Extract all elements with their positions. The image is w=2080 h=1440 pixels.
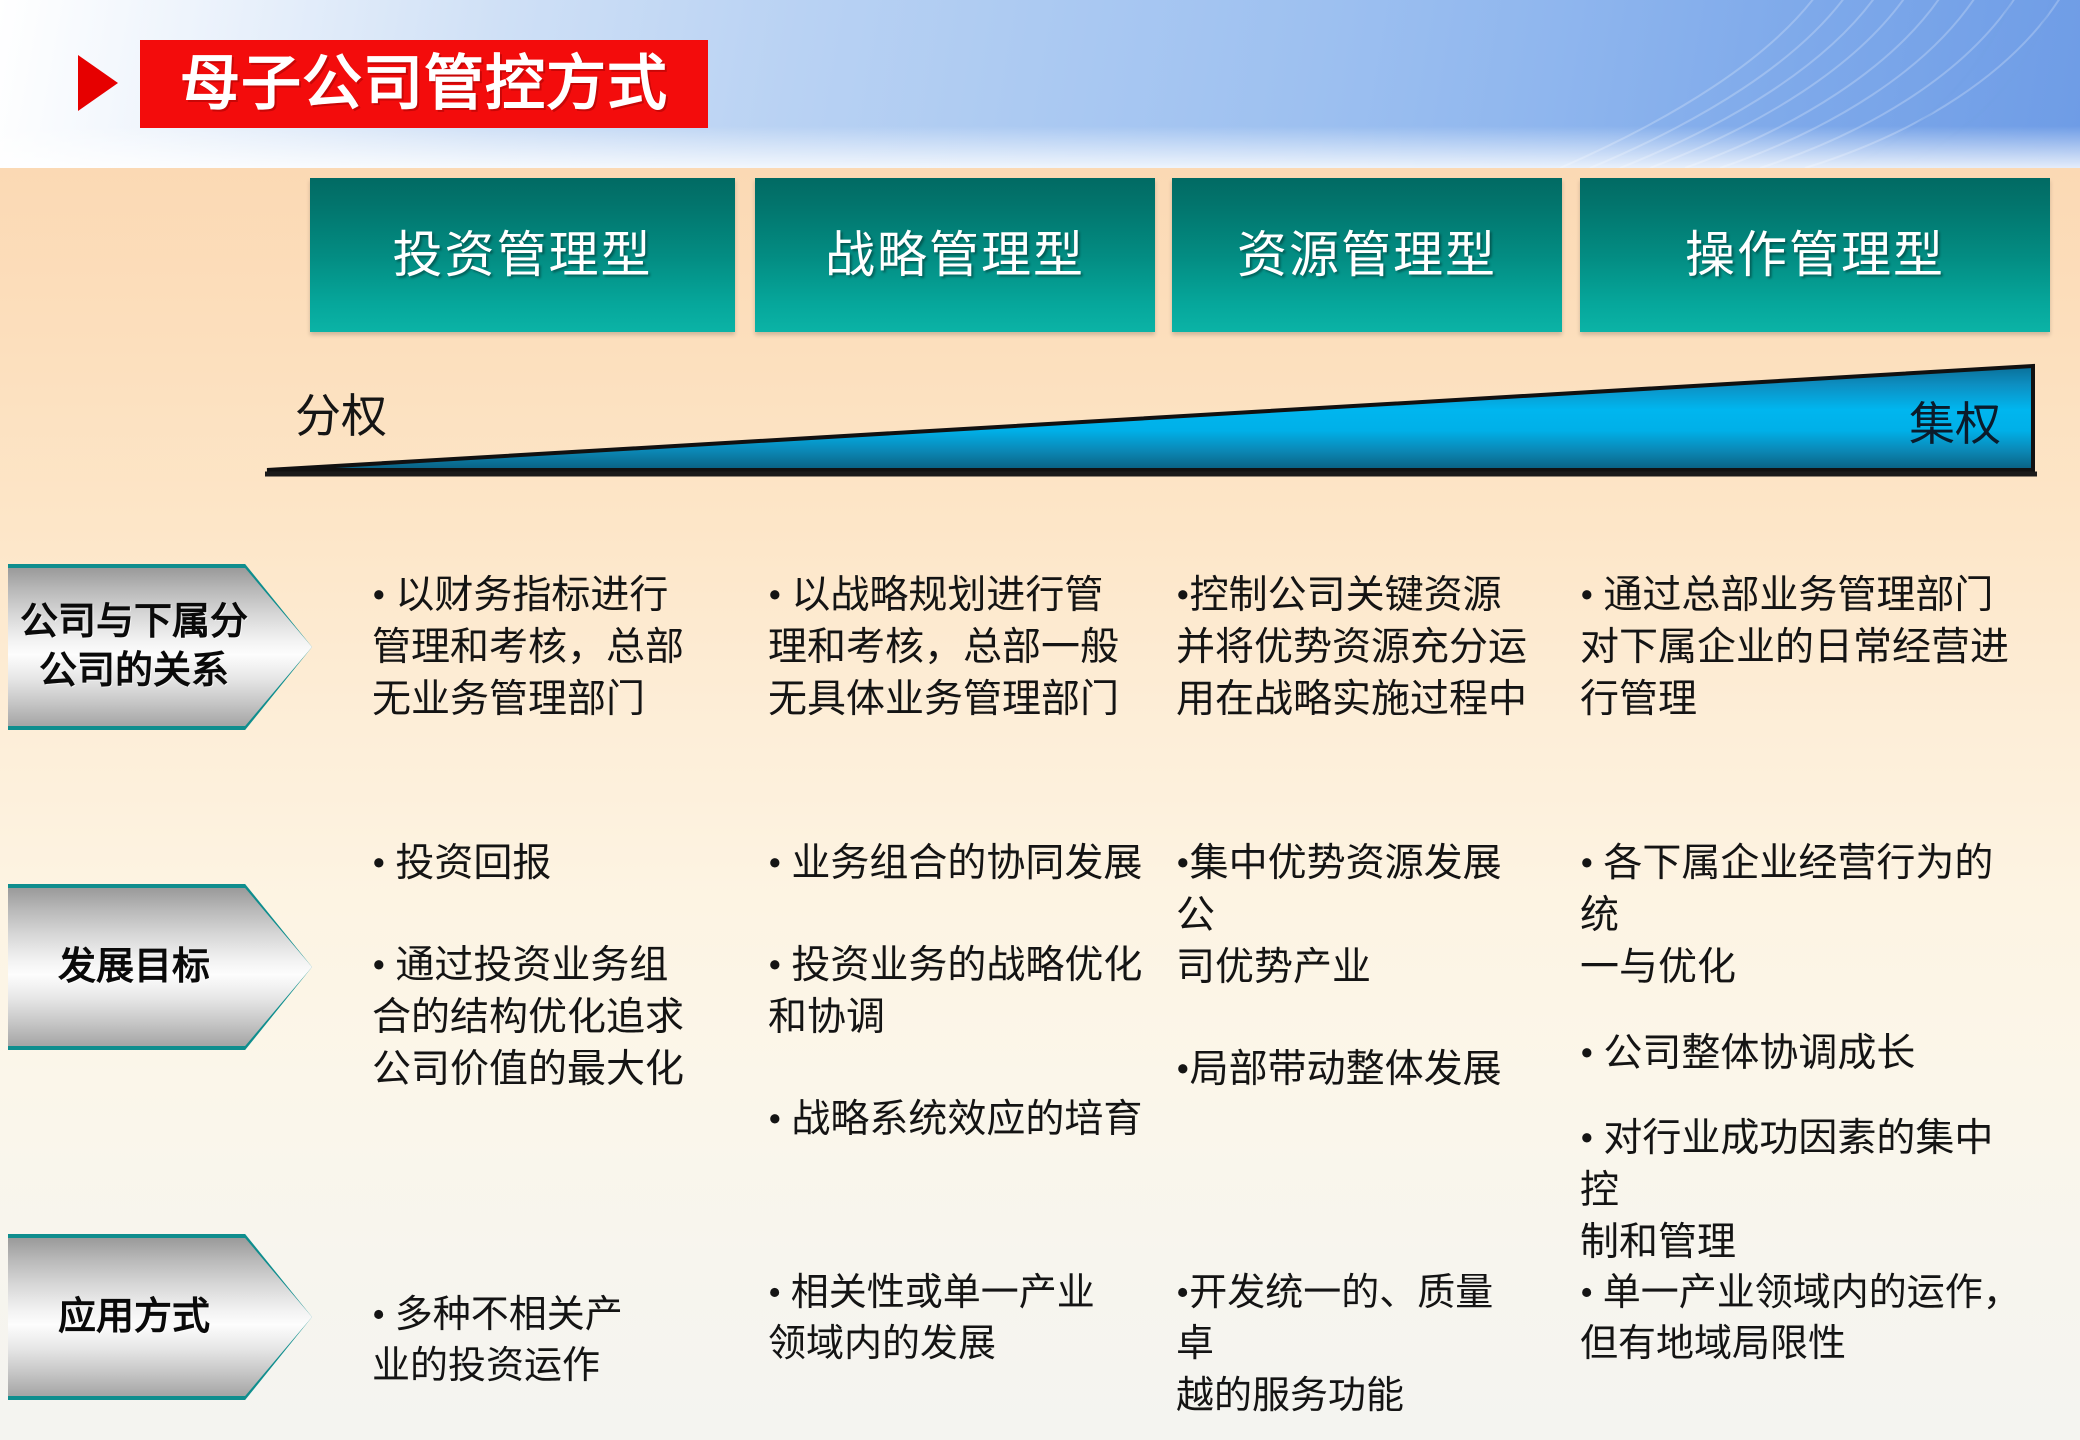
bullet-item: • 业务组合的协同发展: [768, 838, 1148, 890]
column-header-operation[interactable]: 操作管理型: [1580, 178, 2050, 332]
bullet-item: • 各下属企业经营行为的统 一与优化: [1580, 838, 2030, 994]
page-title: 母子公司管控方式: [180, 54, 668, 114]
column-header-label: 资源管理型: [1237, 230, 1497, 280]
cell-application-strategy: • 相关性或单一产业 领域内的发展: [768, 1268, 1148, 1371]
cell-relationship-operation: • 通过总部业务管理部门 对下属企业的日常经营进 行管理: [1580, 570, 2030, 726]
centralization-spectrum: 分权 集权: [265, 352, 2037, 484]
bullet-item: • 战略系统效应的培育: [768, 1094, 1148, 1146]
cell-goals-resource: •集中优势资源发展公 司优势产业 •局部带动整体发展: [1176, 838, 1531, 1145]
bullet-item: • 对行业成功因素的集中控 制和管理: [1580, 1113, 2030, 1269]
wedge-shape-icon: [265, 352, 2037, 484]
cell-application-resource: •开发统一的、质量卓 越的服务功能: [1176, 1268, 1531, 1422]
cell-relationship-strategy: • 以战略规划进行管 理和考核，总部一般 无具体业务管理部门: [768, 570, 1148, 726]
bullet-item: • 以财务指标进行 管理和考核，总部 无业务管理部门: [372, 570, 717, 726]
cell-goals-operation: • 各下属企业经营行为的统 一与优化 • 公司整体协调成长 • 对行业成功因素的…: [1580, 838, 2030, 1303]
cell-relationship-investment: • 以财务指标进行 管理和考核，总部 无业务管理部门: [372, 570, 717, 726]
bullet-item: • 投资业务的战略优化 和协调: [768, 940, 1148, 1044]
column-header-label: 投资管理型: [393, 230, 653, 280]
column-header-strategy[interactable]: 战略管理型: [755, 178, 1155, 332]
column-header-label: 战略管理型: [825, 230, 1085, 280]
cell-relationship-resource: •控制公司关键资源 并将优势资源充分运 用在战略实施过程中: [1176, 570, 1531, 726]
banner-fade: [0, 126, 2080, 168]
bullet-item: • 通过总部业务管理部门 对下属企业的日常经营进 行管理: [1580, 570, 2030, 726]
column-header-resource[interactable]: 资源管理型: [1172, 178, 1562, 332]
bullet-item: •开发统一的、质量卓 越的服务功能: [1176, 1268, 1531, 1422]
spectrum-label-left: 分权: [295, 394, 387, 440]
column-header-label: 操作管理型: [1685, 230, 1945, 280]
bullet-item: • 公司整体协调成长: [1580, 1028, 2030, 1080]
row-label-text: 发展目标: [58, 943, 262, 992]
bullet-item: • 相关性或单一产业 领域内的发展: [768, 1268, 1148, 1371]
cell-goals-strategy: • 业务组合的协同发展 • 投资业务的战略优化 和协调 • 战略系统效应的培育: [768, 838, 1148, 1195]
slide-root: 母子公司管控方式 投资管理型 战略管理型 资源管理型 操作管理型: [0, 0, 2080, 1440]
cell-application-operation: • 单一产业领域内的运作， 但有地域局限性: [1580, 1268, 2030, 1371]
row-label-text: 应用方式: [58, 1293, 262, 1342]
row-label-text: 公司与下属分 公司的关系: [20, 598, 300, 695]
column-header-investment[interactable]: 投资管理型: [310, 178, 735, 332]
cell-application-investment: • 多种不相关产 业的投资运作: [372, 1290, 717, 1393]
bullet-item: • 单一产业领域内的运作， 但有地域局限性: [1580, 1268, 2030, 1371]
page-title-plate: 母子公司管控方式: [140, 40, 708, 128]
triangle-right-icon: [78, 55, 118, 111]
bullet-item: • 通过投资业务组 合的结构优化追求 公司价值的最大化: [372, 940, 717, 1096]
bullet-item: • 投资回报: [372, 838, 717, 890]
spectrum-label-right: 集权: [1909, 402, 2001, 448]
bullet-item: •控制公司关键资源 并将优势资源充分运 用在战略实施过程中: [1176, 570, 1531, 726]
bullet-item: • 以战略规划进行管 理和考核，总部一般 无具体业务管理部门: [768, 570, 1148, 726]
cell-goals-investment: • 投资回报 • 通过投资业务组 合的结构优化追求 公司价值的最大化: [372, 838, 717, 1145]
bullet-item: •局部带动整体发展: [1176, 1044, 1531, 1096]
bullet-item: •集中优势资源发展公 司优势产业: [1176, 838, 1531, 994]
bullet-item: • 多种不相关产 业的投资运作: [372, 1290, 717, 1393]
